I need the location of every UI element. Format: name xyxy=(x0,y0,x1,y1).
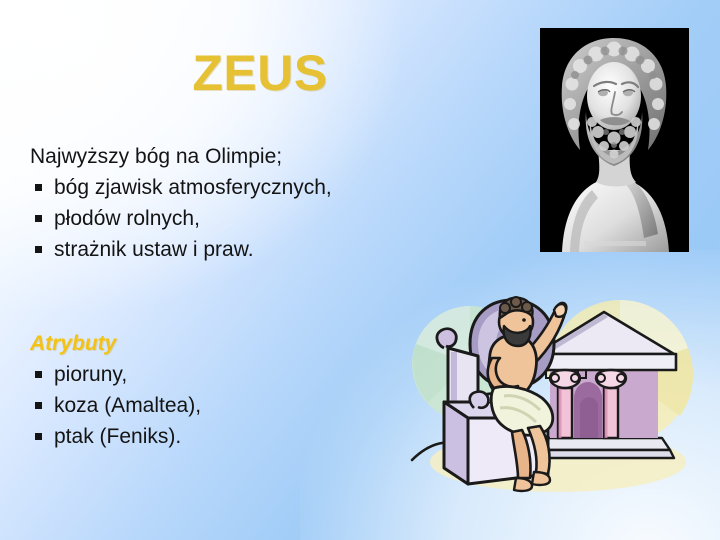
list-item: płodów rolnych, xyxy=(30,203,500,234)
list-item-label: płodów rolnych, xyxy=(54,207,200,230)
list-item-label: pioruny, xyxy=(54,363,127,386)
list-item-label: koza (Amaltea), xyxy=(54,394,201,417)
square-bullet-icon xyxy=(35,172,42,203)
slide-title: ZEUS xyxy=(30,47,490,100)
body-text-block-primary: Najwyższy bóg na Olimpie; bóg zjawisk at… xyxy=(30,141,500,265)
square-bullet-icon xyxy=(35,234,42,265)
list-item-label: strażnik ustaw i praw. xyxy=(54,238,254,261)
square-bullet-icon xyxy=(35,390,42,421)
zeus-marble-bust-photo xyxy=(540,28,689,252)
list-item: strażnik ustaw i praw. xyxy=(30,234,500,265)
list-item: bóg zjawisk atmosferycznych, xyxy=(30,172,500,203)
zeus-on-throne-clipart xyxy=(408,292,720,500)
list-item-label: bóg zjawisk atmosferycznych, xyxy=(54,176,332,199)
section-heading-atrybuty: Atrybuty xyxy=(30,328,360,359)
square-bullet-icon xyxy=(35,359,42,390)
list-item: koza (Amaltea), xyxy=(30,390,360,421)
list-item: ptak (Feniks). xyxy=(30,421,360,452)
list-item-label: ptak (Feniks). xyxy=(54,425,181,448)
body-text-block-attributes: Atrybuty pioruny, koza (Amaltea), ptak (… xyxy=(30,328,360,452)
list-item: pioruny, xyxy=(30,359,360,390)
square-bullet-icon xyxy=(35,203,42,234)
square-bullet-icon xyxy=(35,421,42,452)
presentation-slide: ZEUS Najwyższy bóg na Olimpie; bóg zjawi… xyxy=(0,0,720,540)
body-line-intro: Najwyższy bóg na Olimpie; xyxy=(30,141,500,172)
